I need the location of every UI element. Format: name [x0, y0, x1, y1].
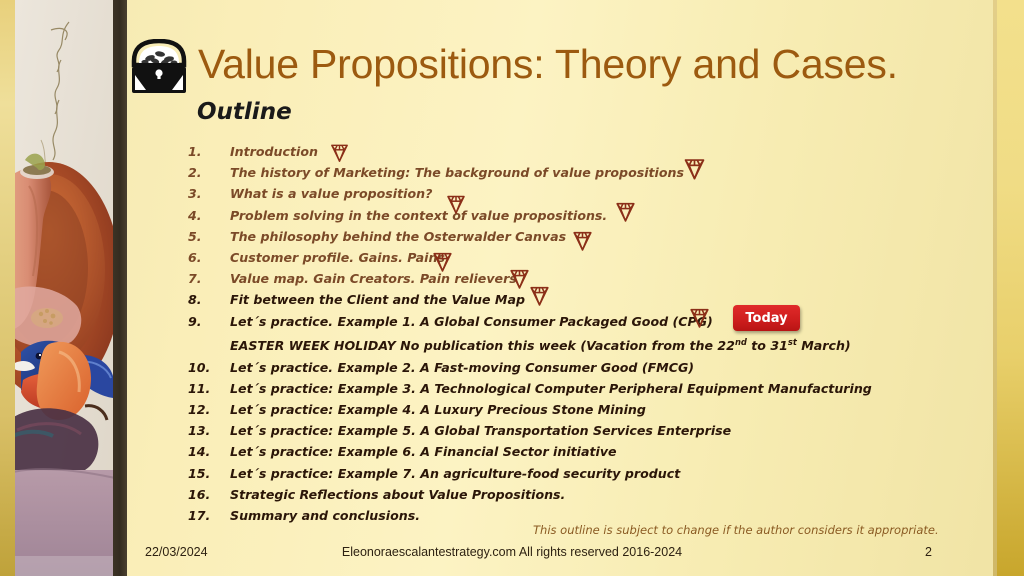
outline-item-number: 1.: [188, 142, 230, 161]
outline-item-number: 12.: [188, 400, 230, 419]
left-gold-band: [0, 0, 15, 576]
outline-item-row: 7.Value map. Gain Creators. Pain relieve…: [188, 269, 888, 290]
footer-page-number: 2: [925, 545, 932, 559]
outline-item-row: 5.The philosophy behind the Osterwalder …: [188, 227, 888, 248]
divider-band: [113, 0, 127, 576]
outline-item-text: EASTER WEEK HOLIDAY No publication this …: [230, 333, 851, 355]
footer-copyright: Eleonoraescalantestrategy.com All rights…: [0, 545, 1024, 559]
outline-item-row: 16.Strategic Reflections about Value Pro…: [188, 485, 888, 506]
outline-item-text: The philosophy behind the Osterwalder Ca…: [230, 227, 566, 246]
outline-item-text: Let´s practice: Example 6. A Financial S…: [230, 442, 617, 461]
outline-item-text: Let´s practice: Example 5. A Global Tran…: [230, 421, 731, 440]
sidebar-artwork: [15, 0, 113, 576]
outline-item-text: Let´s practice. Example 2. A Fast-moving…: [230, 358, 694, 377]
outline-item-row: 2.The history of Marketing: The backgrou…: [188, 163, 888, 184]
outline-item-number: 8.: [188, 290, 230, 309]
outline-item-text: Strategic Reflections about Value Propos…: [230, 485, 565, 504]
outline-item-number: 2.: [188, 163, 230, 182]
outline-list: 1.Introduction2.The history of Marketing…: [188, 142, 888, 527]
outline-item-number: 4.: [188, 206, 230, 225]
outline-item-number: 13.: [188, 421, 230, 440]
outline-item-text: Introduction: [230, 142, 318, 161]
outline-item-text: Customer profile. Gains. Pains: [230, 248, 445, 267]
outline-item-row: 12.Let´s practice: Example 4. A Luxury P…: [188, 400, 888, 421]
outline-item-text: Summary and conclusions.: [230, 506, 420, 525]
outline-item-row: 13.Let´s practice: Example 5. A Global T…: [188, 421, 888, 442]
outline-item-row: 6.Customer profile. Gains. Pains: [188, 248, 888, 269]
outline-item-text: Fit between the Client and the Value Map: [230, 290, 525, 309]
outline-item-number: 17.: [188, 506, 230, 525]
outline-item-number: 9.: [188, 312, 230, 331]
outline-item-number: 5.: [188, 227, 230, 246]
outline-item-number: 16.: [188, 485, 230, 504]
outline-item-row: 4.Problem solving in the context of valu…: [188, 206, 888, 227]
today-badge[interactable]: Today: [733, 305, 800, 331]
outline-subnote-row: EASTER WEEK HOLIDAY No publication this …: [188, 333, 888, 358]
page-title: Value Propositions: Theory and Cases.: [198, 41, 898, 88]
outline-item-row: 11.Let´s practice: Example 3. A Technolo…: [188, 379, 888, 400]
outline-item-number: 14.: [188, 442, 230, 461]
outline-item-number: 11.: [188, 379, 230, 398]
outline-item-number: 10.: [188, 358, 230, 377]
section-subtitle: Outline: [197, 99, 292, 125]
outline-item-text: Let´s practice: Example 7. An agricultur…: [230, 464, 680, 483]
outline-item-row: 1.Introduction: [188, 142, 888, 163]
right-gold-band: [997, 0, 1024, 576]
outline-item-text: Let´s practice: Example 3. A Technologic…: [230, 379, 872, 398]
outline-item-text: Let´s practice. Example 1. A Global Cons…: [230, 312, 713, 331]
outline-item-text: What is a value proposition?: [230, 184, 432, 203]
outline-item-text: The history of Marketing: The background…: [230, 163, 684, 182]
outline-item-number: 7.: [188, 269, 230, 288]
outline-item-text: Let´s practice: Example 4. A Luxury Prec…: [230, 400, 646, 419]
outline-item-number: 3.: [188, 184, 230, 203]
outline-item-number: 15.: [188, 464, 230, 483]
outline-item-row: 14.Let´s practice: Example 6. A Financia…: [188, 442, 888, 463]
outline-item-number: 6.: [188, 248, 230, 267]
watercolor-painting-icon: [15, 0, 113, 576]
outline-item-row: 10.Let´s practice. Example 2. A Fast-mov…: [188, 358, 888, 379]
outline-item-text: Value map. Gain Creators. Pain relievers: [230, 269, 517, 288]
outline-item-row: 3.What is a value proposition?: [188, 184, 888, 205]
disclaimer-note: This outline is subject to change if the…: [533, 523, 939, 537]
outline-item-text: Problem solving in the context of value …: [230, 206, 607, 225]
slide: Value Propositions: Theory and Cases. Ou…: [0, 0, 1024, 576]
outline-item-row: 15.Let´s practice: Example 7. An agricul…: [188, 464, 888, 485]
treasure-chest-icon: [128, 39, 190, 95]
